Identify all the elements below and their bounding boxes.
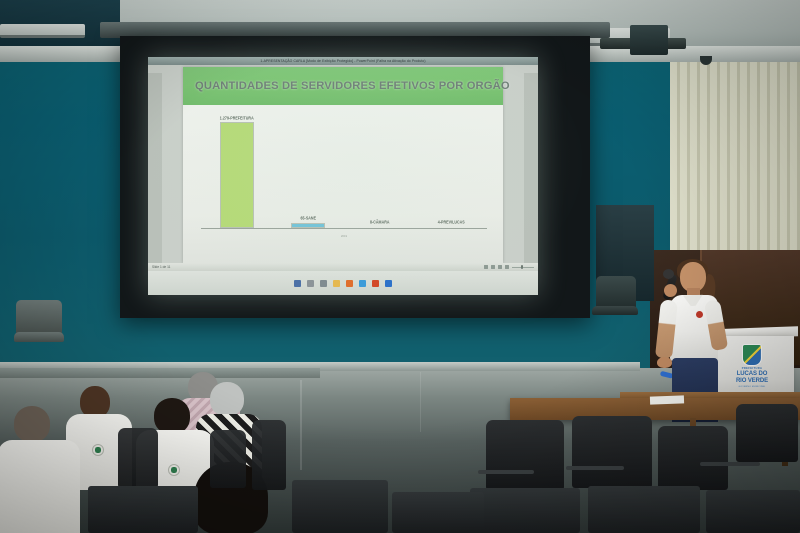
logo-city-line2: RIO VERDE [736,378,768,384]
workspace-left-margin [148,73,162,279]
shirt-logo-icon [168,464,180,476]
slide-sorter-icon[interactable] [491,265,495,269]
slide-title-band: QUANTIDADES DE SERVIDORES EFETIVOS POR O… [183,67,503,105]
zoom-slider[interactable] [512,267,534,268]
chair-armrest [700,462,760,466]
powerpoint-workspace: QUANTIDADES DE SERVIDORES EFETIVOS POR O… [148,65,538,271]
wall-speaker-icon [630,25,668,55]
shirt-logo-icon [92,444,104,456]
task-view-icon[interactable] [320,280,327,287]
projected-desktop: 1-APRESENTAÇÃO CARLA [Modo de Exibição P… [148,57,538,295]
powerpoint-titlebar: 1-APRESENTAÇÃO CARLA [Modo de Exibição P… [148,57,538,65]
view-controls[interactable] [484,265,534,269]
presenter-shirt-logo [696,311,703,318]
chair [572,416,652,488]
chair [486,420,564,490]
slide-canvas: QUANTIDADES DE SERVIDORES EFETIVOS POR O… [183,67,503,263]
bar-group-sane: 65-SANE [291,113,325,228]
slide-title: QUANTIDADES DE SERVIDORES EFETIVOS POR O… [183,80,510,92]
search-icon[interactable] [307,280,314,287]
bar-label-previlucas: 4-PREVILUCAS [438,220,465,225]
bar-group-prefeitura: 1.279-PREFEITURA [220,113,254,228]
slide-counter: Slide 1 de 11 [152,265,170,270]
chair [210,430,246,488]
audience-member [8,406,76,533]
powerpoint-title-text: 1-APRESENTAÇÃO CARLA [Modo de Exibição P… [260,59,425,64]
chair-seat [470,488,580,533]
chair [118,428,158,488]
chair-seat [392,492,484,533]
bar-group-camara: 8-CÂMARA [363,113,397,228]
municipal-logo: PREFEITURA LUCAS DO RIO VERDE GOVERNO MU… [736,344,768,388]
paper-sheet [650,395,684,404]
microphone-head-icon [663,269,674,279]
auditorium-presentation-photo: 1-APRESENTAÇÃO CARLA [Modo de Exibição P… [0,0,800,533]
chair [252,420,286,490]
bar-prefeitura [220,122,254,228]
person-body [0,440,80,533]
powerpoint-icon[interactable] [372,280,379,287]
windows-taskbar[interactable] [148,271,538,295]
bar-chart: 1.279-PREFEITURA 65-SANE 8-CÂMARA [183,105,503,263]
bar-group-previlucas: 4-PREVILUCAS [434,113,468,228]
bar-label-prefeitura: 1.279-PREFEITURA [220,115,254,120]
city-crest-icon [742,344,762,366]
powerpoint-statusbar: Slide 1 de 11 [148,263,538,271]
workspace-right-margin [524,73,538,279]
bar-label-sane: 65-SANE [300,216,316,221]
logo-city-line1: LUCAS DO [737,371,768,377]
slideshow-icon[interactable] [505,265,509,269]
zoom-slider-handle[interactable] [521,265,523,269]
chair-seat [292,480,388,533]
presenter-hand-on-table [657,357,672,368]
chart-bars: 1.279-PREFEITURA 65-SANE 8-CÂMARA [201,113,487,228]
person-head [210,382,244,416]
person-head [154,398,190,434]
chair-armrest [478,470,534,474]
chair [736,404,798,462]
audience-bench [0,368,320,378]
stacking-chair-seat [592,306,638,315]
chart-x-axis [201,228,487,229]
chair-seat [706,490,800,533]
stacking-chair [16,300,62,334]
outlook-icon[interactable] [385,280,392,287]
edge-icon[interactable] [359,280,366,287]
firefox-icon[interactable] [346,280,353,287]
chair-armrest [566,466,624,470]
normal-view-icon[interactable] [484,265,488,269]
projection-screen: 1-APRESENTAÇÃO CARLA [Modo de Exibição P… [120,36,590,318]
chart-axis-note: 2019 [201,234,487,238]
stacking-chair-seat [14,332,64,342]
logo-prefeitura-text: PREFEITURA [742,367,763,370]
floor-seam [300,380,302,470]
chair-seat [88,486,198,533]
chair [658,426,728,490]
reading-view-icon[interactable] [498,265,502,269]
file-explorer-icon[interactable] [333,280,340,287]
stacking-chair [596,276,636,308]
ceiling-light-fixture [0,24,85,38]
person-head [14,406,50,442]
bar-label-camara: 8-CÂMARA [370,220,390,225]
logo-subtitle: GOVERNO MUNICIPAL [739,386,766,388]
chair-seat [588,486,700,533]
start-icon[interactable] [294,280,301,287]
floor-seam [420,372,421,432]
chart-plot-area: 1.279-PREFEITURA 65-SANE 8-CÂMARA [201,113,487,229]
